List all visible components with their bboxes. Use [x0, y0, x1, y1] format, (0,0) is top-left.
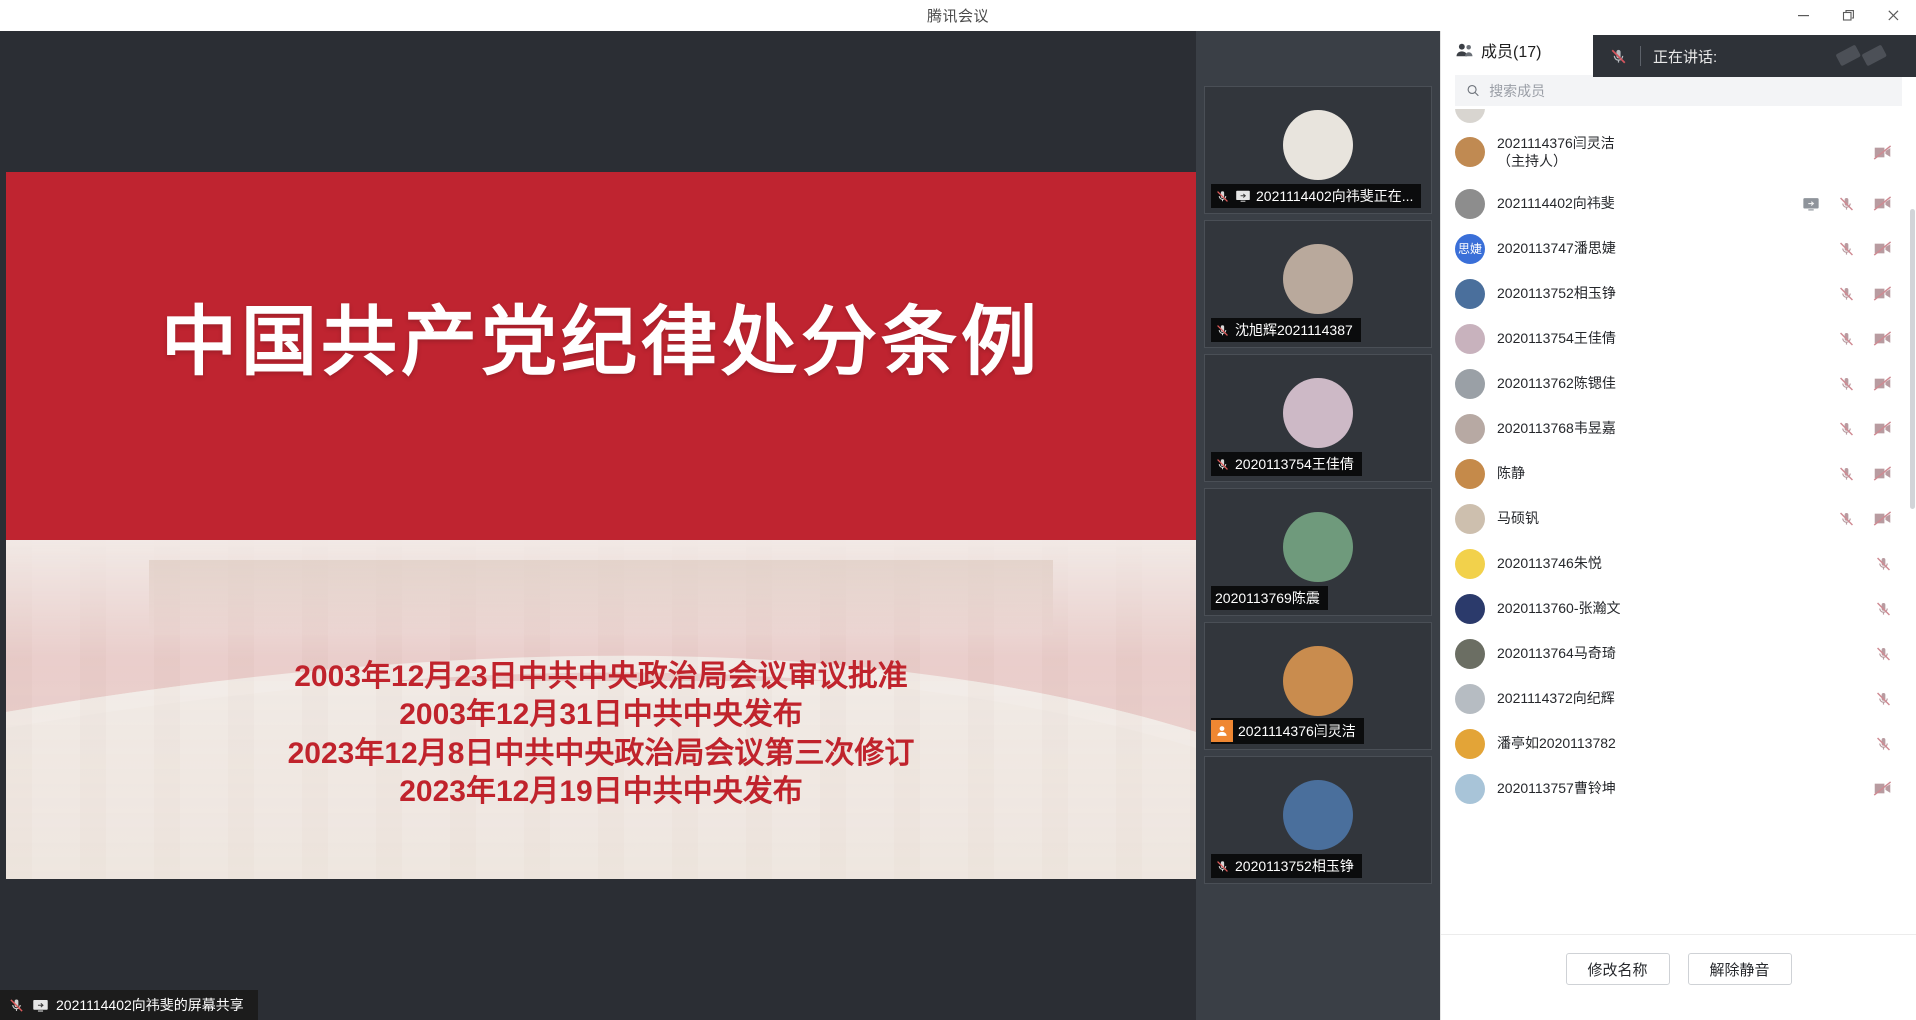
search-input[interactable] — [1489, 83, 1891, 99]
mic-muted-icon[interactable] — [1875, 600, 1892, 618]
screen-share-icon[interactable] — [1802, 196, 1820, 212]
thumbnail-label: 2021114402向祎斐正在... — [1256, 186, 1413, 206]
avatar — [1455, 369, 1485, 399]
thumbnail-label-row: 2020113752相玉铮 — [1211, 854, 1362, 878]
avatar — [1283, 110, 1353, 180]
avatar — [1455, 549, 1485, 579]
participant-name: 2020113752相玉铮 — [1497, 284, 1616, 302]
mic-muted-icon[interactable] — [1838, 240, 1855, 258]
mic-muted-icon[interactable] — [1875, 555, 1892, 573]
list-item[interactable]: 2020113764马奇琦 — [1455, 631, 1902, 676]
camera-muted-icon[interactable] — [1873, 285, 1892, 302]
avatar — [1455, 504, 1485, 534]
avatar — [1455, 459, 1485, 489]
list-item[interactable]: 马硕钒 — [1455, 496, 1902, 541]
participants-list[interactable]: 2021114376闫灵洁 （主持人） 2021114402向祎斐 — [1441, 109, 1916, 934]
participant-name: 马硕钒 — [1497, 509, 1539, 527]
restore-icon — [1842, 9, 1855, 22]
video-thumbnail[interactable]: 沈旭辉2021114387 — [1204, 220, 1432, 348]
now-speaking-banner: 正在讲话: — [1593, 35, 1916, 77]
video-thumbnail[interactable]: 2020113754王佳倩 — [1204, 354, 1432, 482]
title-bar: 腾讯会议 — [0, 0, 1916, 31]
mic-muted-icon[interactable] — [1875, 735, 1892, 753]
row-actions — [1873, 766, 1892, 811]
list-item[interactable]: 思婕 2020113747潘思婕 — [1455, 226, 1902, 271]
avatar — [1455, 279, 1485, 309]
thumbnail-label-row: 2020113769陈震 — [1211, 586, 1328, 610]
participants-count-label: 成员(17) — [1481, 38, 1541, 62]
search-members-bar[interactable] — [1455, 75, 1902, 106]
camera-muted-icon[interactable] — [1873, 420, 1892, 437]
row-actions — [1838, 496, 1892, 541]
thumbnail-label-row: 2021114402向祎斐正在... — [1211, 184, 1421, 208]
list-item[interactable]: 2021114372向纪辉 — [1455, 676, 1902, 721]
window-title: 腾讯会议 — [927, 5, 989, 26]
thumbnail-label-row: 2020113754王佳倩 — [1211, 452, 1362, 476]
row-actions — [1838, 406, 1892, 451]
share-status-label: 2021114402向祎斐的屏幕共享 — [56, 995, 244, 1015]
mic-muted-icon[interactable] — [1875, 645, 1892, 663]
close-icon — [1887, 9, 1900, 22]
mic-muted-icon[interactable] — [1838, 330, 1855, 348]
mic-muted-icon — [1609, 47, 1628, 66]
row-actions — [1875, 586, 1892, 631]
camera-muted-icon[interactable] — [1873, 144, 1892, 161]
row-actions — [1875, 676, 1892, 721]
camera-muted-icon[interactable] — [1873, 240, 1892, 257]
participant-role: （主持人） — [1497, 152, 1615, 170]
avatar — [1455, 639, 1485, 669]
avatar — [1455, 684, 1485, 714]
list-item[interactable]: 潘亭如2020113782 — [1455, 721, 1902, 766]
list-item[interactable]: 2020113760-张瀚文 — [1455, 586, 1902, 631]
list-item[interactable]: 2020113757曹铃坤 — [1455, 766, 1902, 811]
list-item[interactable]: 2020113762陈锶佳 — [1455, 361, 1902, 406]
presentation-slide: 中国共产党纪律处分条例 2003年12月23日中共中央政治局会议审议批准 200… — [6, 172, 1196, 879]
participant-name: 2020113762陈锶佳 — [1497, 374, 1616, 392]
avatar — [1283, 512, 1353, 582]
video-thumbnail[interactable]: 2020113752相玉铮 — [1204, 756, 1432, 884]
host-badge-icon — [1211, 720, 1233, 742]
list-item[interactable]: 2020113746朱悦 — [1455, 541, 1902, 586]
participant-name: 2020113760-张瀚文 — [1497, 599, 1620, 617]
row-actions — [1838, 361, 1892, 406]
list-item[interactable]: 2021114376闫灵洁 （主持人） — [1455, 123, 1902, 181]
share-status-bar: 2021114402向祎斐的屏幕共享 — [0, 990, 258, 1020]
participant-name: 2021114372向纪辉 — [1497, 689, 1615, 707]
avatar — [1455, 324, 1485, 354]
mic-muted-icon[interactable] — [1838, 285, 1855, 303]
camera-muted-icon[interactable] — [1873, 195, 1892, 212]
participant-name: 陈静 — [1497, 464, 1525, 482]
screen-share-icon — [32, 998, 49, 1013]
banner-divider — [1640, 46, 1641, 66]
row-actions — [1802, 181, 1892, 226]
panel-footer: 修改名称 解除静音 — [1441, 934, 1916, 1020]
thumbnail-label: 2020113752相玉铮 — [1235, 856, 1354, 876]
list-item[interactable]: 2021114402向祎斐 — [1455, 181, 1902, 226]
row-actions — [1838, 226, 1892, 271]
camera-muted-icon[interactable] — [1873, 330, 1892, 347]
participant-name: 2020113746朱悦 — [1497, 554, 1602, 572]
participant-name-text: 2021114376闫灵洁 — [1497, 135, 1615, 151]
row-actions — [1875, 721, 1892, 766]
avatar — [1455, 414, 1485, 444]
meeting-window: 腾讯会议 — [0, 0, 1916, 1020]
mic-muted-icon — [1215, 323, 1230, 338]
participant-name: 2020113757曹铃坤 — [1497, 779, 1616, 797]
row-actions — [1873, 123, 1892, 181]
mic-muted-icon[interactable] — [1875, 690, 1892, 708]
rename-button[interactable]: 修改名称 — [1566, 953, 1670, 985]
participant-name: 2021114402向祎斐 — [1497, 194, 1615, 212]
thumbnail-label: 沈旭辉2021114387 — [1235, 320, 1353, 340]
list-item[interactable]: 2020113768韦昱嘉 — [1455, 406, 1902, 451]
avatar: 思婕 — [1455, 234, 1485, 264]
participant-name: 2020113754王佳倩 — [1497, 329, 1616, 347]
speaking-decoration-icon — [1835, 43, 1899, 69]
mic-muted-icon[interactable] — [1838, 195, 1855, 213]
screen-share-icon — [1235, 189, 1251, 203]
avatar — [1455, 189, 1485, 219]
list-item[interactable]: 2020113752相玉铮 — [1455, 271, 1902, 316]
slide-line: 2003年12月31日中共中央发布 — [6, 696, 1196, 734]
avatar — [1455, 774, 1485, 804]
row-actions — [1838, 451, 1892, 496]
thumbnail-label: 2020113754王佳倩 — [1235, 454, 1354, 474]
thumbnail-label: 2020113769陈震 — [1215, 588, 1320, 608]
row-actions — [1875, 631, 1892, 676]
search-icon — [1466, 83, 1480, 98]
avatar — [1455, 109, 1485, 123]
avatar — [1283, 780, 1353, 850]
video-thumbnail[interactable]: 2021114402向祎斐正在... — [1204, 86, 1432, 214]
participants-panel: 成员(17) 正在讲话: — [1440, 31, 1916, 1020]
unmute-button[interactable]: 解除静音 — [1688, 953, 1792, 985]
avatar — [1283, 646, 1353, 716]
camera-muted-icon[interactable] — [1873, 375, 1892, 392]
row-actions — [1838, 271, 1892, 316]
mic-muted-icon — [1215, 859, 1230, 874]
list-item[interactable]: 2020113754王佳倩 — [1455, 316, 1902, 361]
mic-muted-icon[interactable] — [1838, 375, 1855, 393]
mic-muted-icon — [1215, 457, 1230, 472]
minimize-icon — [1797, 9, 1810, 22]
slide-title: 中国共产党纪律处分条例 — [6, 280, 1196, 390]
window-controls — [1781, 0, 1916, 31]
mic-muted-icon[interactable] — [1838, 465, 1855, 483]
list-item[interactable]: 陈静 — [1455, 451, 1902, 496]
avatar — [1455, 729, 1485, 759]
avatar — [1283, 244, 1353, 314]
slide-line: 2003年12月23日中共中央政治局会议审议批准 — [6, 658, 1196, 696]
camera-muted-icon[interactable] — [1873, 510, 1892, 527]
slide-body-lines: 2003年12月23日中共中央政治局会议审议批准 2003年12月31日中共中央… — [6, 658, 1196, 812]
video-thumbnail[interactable]: 2021114376闫灵洁 — [1204, 622, 1432, 750]
camera-muted-icon[interactable] — [1873, 780, 1892, 797]
participant-name — [1497, 109, 1501, 123]
participant-name: 2020113764马奇琦 — [1497, 644, 1616, 662]
thumbnail-label-row: 2021114376闫灵洁 — [1211, 718, 1364, 744]
avatar-initials: 思婕 — [1458, 240, 1482, 257]
participant-thumbnail-strip[interactable]: 2021114402向祎斐正在... 沈旭辉2021114387 — [1196, 31, 1440, 1020]
mic-muted-icon[interactable] — [1838, 420, 1855, 438]
people-icon — [1455, 41, 1474, 60]
minimize-button[interactable] — [1781, 0, 1826, 31]
restore-button[interactable] — [1826, 0, 1871, 31]
participants-scrollbar[interactable] — [1910, 209, 1915, 509]
mic-muted-icon — [8, 997, 25, 1014]
list-item-partial[interactable] — [1455, 109, 1902, 123]
row-actions — [1875, 541, 1892, 586]
participant-name: 潘亭如2020113782 — [1497, 734, 1616, 752]
participant-name: 2020113768韦昱嘉 — [1497, 419, 1616, 437]
person-icon — [1215, 724, 1229, 738]
participant-name: 2021114376闫灵洁 （主持人） — [1497, 134, 1615, 171]
mic-muted-icon[interactable] — [1838, 510, 1855, 528]
slide-line: 2023年12月19日中共中央发布 — [6, 773, 1196, 811]
thumbnail-label-row: 沈旭辉2021114387 — [1211, 318, 1361, 342]
video-thumbnail[interactable]: 2020113769陈震 — [1204, 488, 1432, 616]
participant-name: 2020113747潘思婕 — [1497, 239, 1616, 257]
camera-muted-icon[interactable] — [1873, 465, 1892, 482]
avatar — [1455, 594, 1485, 624]
slide-line: 2023年12月8日中共中央政治局会议第三次修订 — [6, 735, 1196, 773]
thumbnail-label: 2021114376闫灵洁 — [1238, 721, 1356, 741]
row-actions — [1838, 316, 1892, 361]
mic-muted-icon — [1215, 189, 1230, 204]
now-speaking-label: 正在讲话: — [1653, 46, 1717, 67]
avatar — [1283, 378, 1353, 448]
avatar — [1455, 137, 1485, 167]
shared-screen-stage[interactable]: 中国共产党纪律处分条例 2003年12月23日中共中央政治局会议审议批准 200… — [0, 31, 1196, 1020]
close-button[interactable] — [1871, 0, 1916, 31]
